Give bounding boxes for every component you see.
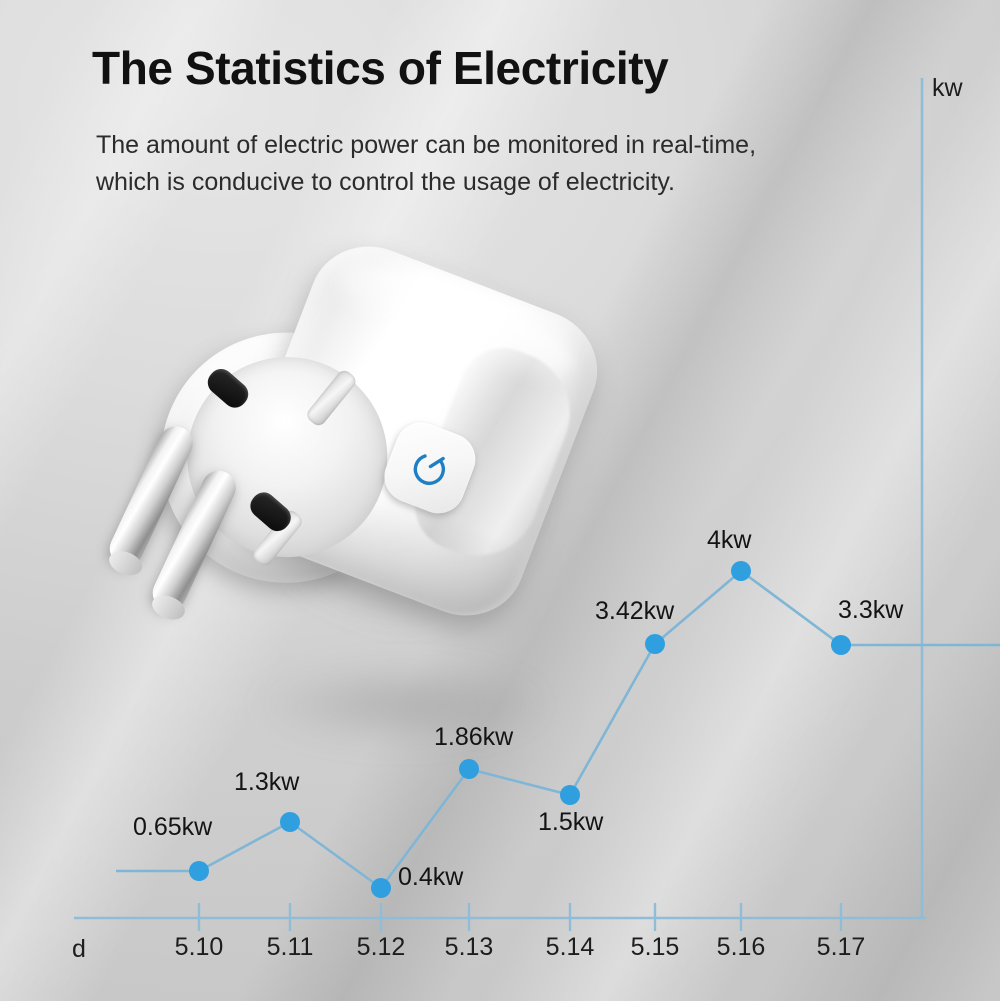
- x-tick-label-5-10: 5.10: [175, 933, 224, 962]
- data-point-5-14[interactable]: [560, 785, 580, 805]
- data-label-5-16: 4kw: [707, 526, 751, 555]
- x-tick-label-5-11: 5.11: [267, 933, 314, 962]
- x-tick-label-5-17: 5.17: [817, 933, 866, 962]
- electricity-line-chart: [0, 0, 1000, 1001]
- data-label-5-13: 1.86kw: [434, 723, 513, 752]
- poster-canvas: The Statistics of Electricity The amount…: [0, 0, 1000, 1001]
- series-points: [189, 561, 851, 898]
- y-axis-label: kw: [932, 74, 963, 103]
- data-label-5-10: 0.65kw: [133, 813, 212, 842]
- x-axis-label: d: [72, 935, 86, 964]
- x-tick-label-5-13: 5.13: [445, 933, 494, 962]
- data-point-5-11[interactable]: [280, 812, 300, 832]
- data-label-5-15: 3.42kw: [595, 597, 674, 626]
- data-label-5-12: 0.4kw: [398, 863, 463, 892]
- x-tick-label-5-16: 5.16: [717, 933, 766, 962]
- x-tick-label-5-14: 5.14: [546, 933, 595, 962]
- data-point-5-16[interactable]: [731, 561, 751, 581]
- data-point-5-10[interactable]: [189, 861, 209, 881]
- data-label-5-14: 1.5kw: [538, 808, 603, 837]
- data-label-5-17: 3.3kw: [838, 596, 903, 625]
- data-label-5-11: 1.3kw: [234, 768, 299, 797]
- x-tick-label-5-12: 5.12: [357, 933, 406, 962]
- series-line: [199, 571, 841, 888]
- x-tick-label-5-15: 5.15: [631, 933, 680, 962]
- data-point-5-17[interactable]: [831, 635, 851, 655]
- data-point-5-15[interactable]: [645, 634, 665, 654]
- data-point-5-12[interactable]: [371, 878, 391, 898]
- data-point-5-13[interactable]: [459, 759, 479, 779]
